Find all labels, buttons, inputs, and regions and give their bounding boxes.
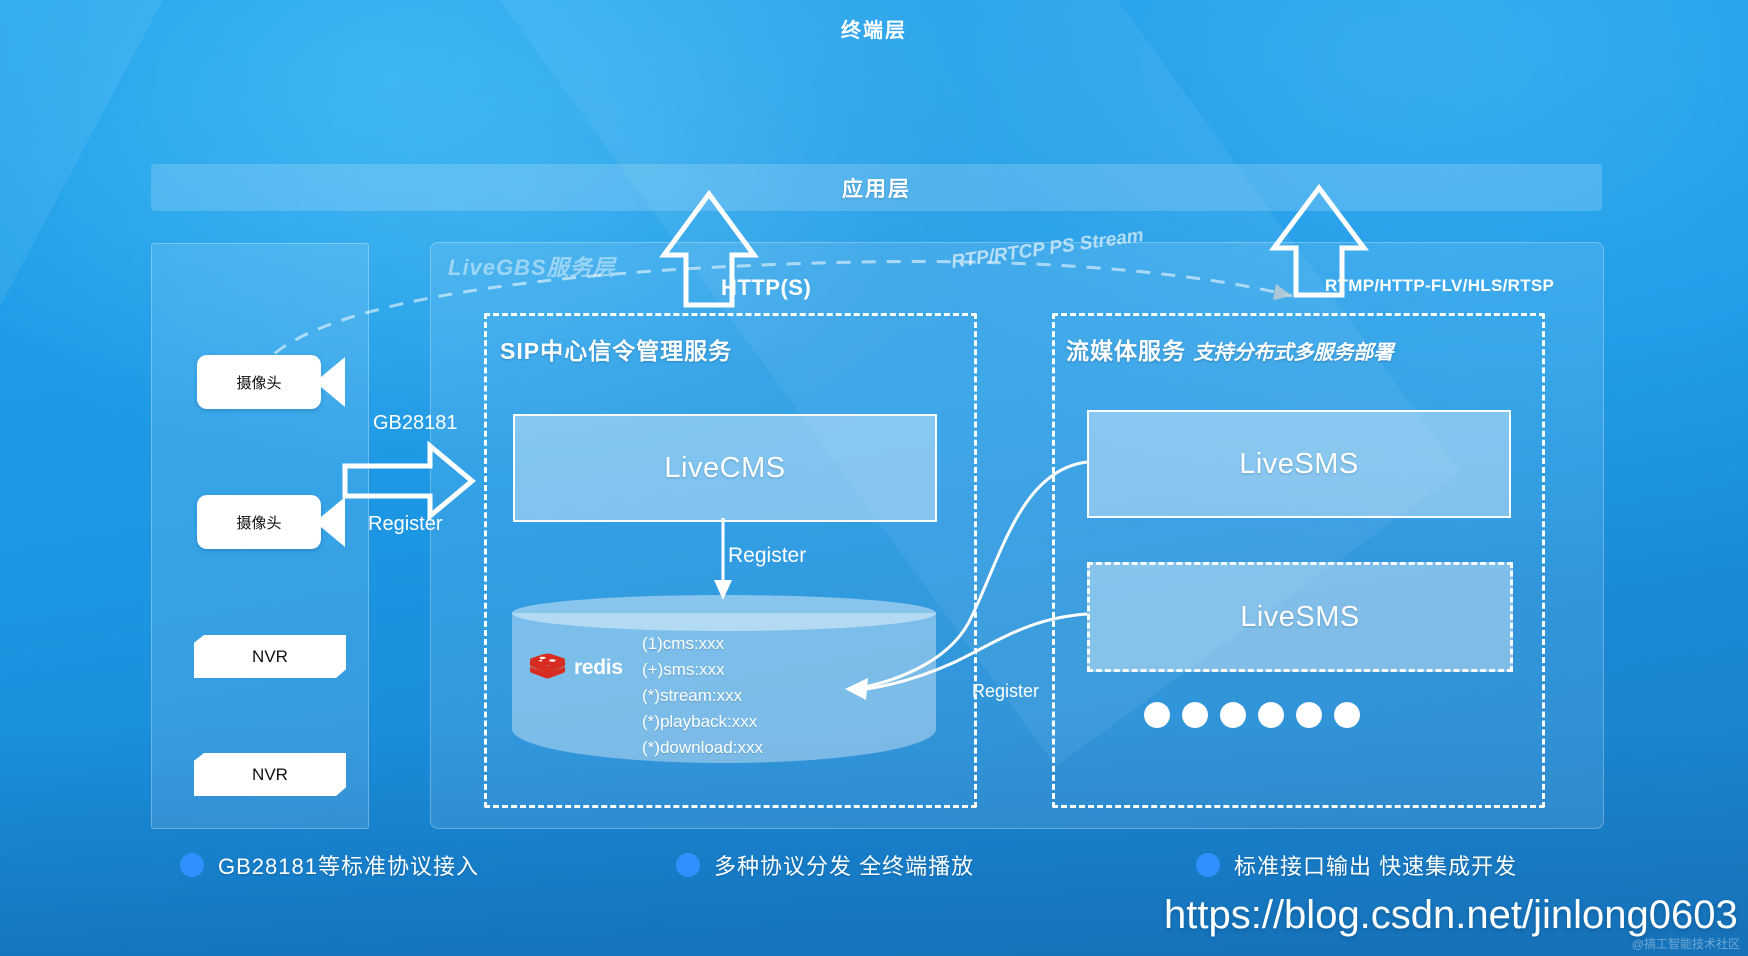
instance-dot xyxy=(1296,702,1322,728)
redis-logo: redis xyxy=(528,647,630,689)
livesms-label-1: LiveSMS xyxy=(1239,448,1359,481)
livecms-service-card[interactable]: LiveCMS xyxy=(513,414,937,522)
legend-bullet-icon xyxy=(1196,853,1220,877)
camera-node-1[interactable]: 摄像头 xyxy=(197,355,321,409)
watermark-credit: @搞工智能技术社区 xyxy=(1632,935,1740,952)
legend-bullet-icon xyxy=(180,853,204,877)
livesms-more-instances-dots xyxy=(1144,702,1360,728)
redis-key-list: (1)cms:xxx (+)sms:xxx (*)stream:xxx (*)p… xyxy=(642,631,763,761)
nvr-node-2[interactable]: NVR xyxy=(194,753,346,796)
camera-icon xyxy=(315,357,345,407)
nvr-node-1-label: NVR xyxy=(252,647,288,667)
livecms-label: LiveCMS xyxy=(664,452,785,485)
redis-key-item: (*)playback:xxx xyxy=(642,709,763,735)
watermark-url: https://blog.csdn.net/jinlong0603 xyxy=(1164,893,1738,938)
streaming-media-box-title: 流媒体服务 支持分布式多服务部署 xyxy=(1066,332,1393,366)
legend-item-2: 多种协议分发 全终端播放 xyxy=(676,849,974,881)
camera-node-1-label: 摄像头 xyxy=(236,372,281,393)
redis-wordmark: redis xyxy=(574,656,623,680)
redis-icon xyxy=(528,651,567,685)
redis-key-item: (1)cms:xxx xyxy=(642,631,763,657)
nvr-node-2-label: NVR xyxy=(252,765,288,785)
nvr-node-1[interactable]: NVR xyxy=(194,635,346,678)
instance-dot xyxy=(1258,702,1284,728)
diagram-stage: 应用层 终端层 摄像头 摄像头 NVR NVR LiveGBS服务层 SIP中心… xyxy=(0,0,1748,956)
streaming-media-title-sub: 支持分布式多服务部署 xyxy=(1193,342,1393,364)
livesms-label-2: LiveSMS xyxy=(1240,601,1360,634)
redis-key-item: (*)stream:xxx xyxy=(642,683,763,709)
instance-dot xyxy=(1144,702,1170,728)
redis-cylinder-top xyxy=(512,595,936,631)
legend-bullet-icon xyxy=(676,853,700,877)
legend-item-1: GB28181等标准协议接入 xyxy=(180,849,479,881)
camera-icon xyxy=(315,497,345,547)
redis-key-item: (*)download:xxx xyxy=(642,735,763,761)
livesms-service-card-2[interactable]: LiveSMS xyxy=(1087,562,1513,672)
livesms-service-card-1[interactable]: LiveSMS xyxy=(1087,410,1511,518)
legend-item-2-label: 多种协议分发 全终端播放 xyxy=(714,849,974,881)
sip-signalling-box-title: SIP中心信令管理服务 xyxy=(500,332,732,366)
camera-node-2-label: 摄像头 xyxy=(236,512,281,533)
register-cms-label: Register xyxy=(728,544,806,568)
instance-dot xyxy=(1334,702,1360,728)
livegbs-service-panel-title: LiveGBS服务层 xyxy=(448,250,616,282)
legend-item-3-label: 标准接口输出 快速集成开发 xyxy=(1234,849,1517,881)
streaming-media-box xyxy=(1052,313,1545,808)
streaming-media-title-main: 流媒体服务 xyxy=(1066,338,1186,364)
register-terminal-label: Register xyxy=(368,513,442,536)
application-layer-bar: 应用层 xyxy=(151,164,1602,211)
redis-store: redis (1)cms:xxx (+)sms:xxx (*)stream:xx… xyxy=(512,595,936,771)
instance-dot xyxy=(1182,702,1208,728)
application-layer-title: 应用层 xyxy=(842,173,911,203)
register-sms-label: Register xyxy=(972,681,1039,702)
gb28181-connector-label: GB28181 xyxy=(373,412,458,435)
terminal-layer-title: 终端层 xyxy=(0,14,1748,43)
rtmp-connector-label: RTMP/HTTP-FLV/HLS/RTSP xyxy=(1325,276,1554,296)
http-connector-label: HTTP(S) xyxy=(721,275,811,301)
legend-item-3: 标准接口输出 快速集成开发 xyxy=(1196,849,1517,881)
camera-node-2[interactable]: 摄像头 xyxy=(197,495,321,549)
legend-item-1-label: GB28181等标准协议接入 xyxy=(218,849,479,881)
instance-dot xyxy=(1220,702,1246,728)
redis-key-item: (+)sms:xxx xyxy=(642,657,763,683)
